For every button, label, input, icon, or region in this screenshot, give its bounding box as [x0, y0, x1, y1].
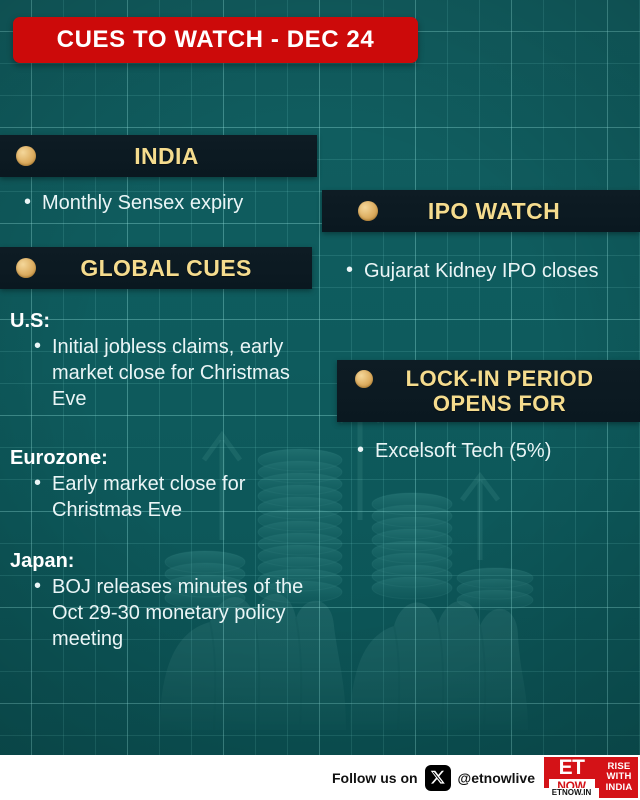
section-header-ipo-watch-label: IPO WATCH [378, 198, 640, 225]
footer-bar: Follow us on @etnowlive ET NOW ETNOW.IN … [0, 755, 640, 800]
page-title: CUES TO WATCH - DEC 24 [57, 26, 375, 54]
gold-coin-icon [355, 370, 373, 388]
list-item: Monthly Sensex expiry [22, 190, 312, 216]
subsection-label-us: U.S: [10, 310, 310, 333]
et-now-logo-left: ET NOW ETNOW.IN [544, 757, 599, 798]
follow-us-label: Follow us on [332, 770, 418, 786]
gold-coin-icon [16, 146, 36, 166]
gold-coin-icon [16, 258, 36, 278]
section-header-lock-in-period: LOCK-IN PERIOD OPENS FOR [337, 360, 640, 422]
tagline-line-3: INDIA [606, 783, 633, 793]
page-title-banner: CUES TO WATCH - DEC 24 [13, 17, 418, 63]
list-item: BOJ releases minutes of the Oct 29-30 mo… [32, 574, 320, 652]
list-item: Initial jobless claims, early market clo… [32, 334, 310, 412]
et-now-logo: ET NOW ETNOW.IN RISE WITH INDIA [544, 757, 638, 798]
section-header-global-cues-label: GLOBAL CUES [36, 255, 312, 282]
global-cues-group-japan: Japan: BOJ releases minutes of the Oct 2… [10, 550, 320, 653]
us-points-list: Initial jobless claims, early market clo… [32, 334, 310, 412]
et-now-logo-site: ETNOW.IN [544, 788, 599, 798]
x-twitter-icon[interactable] [425, 765, 451, 791]
social-handle[interactable]: @etnowlive [458, 770, 535, 786]
list-item: Gujarat Kidney IPO closes [344, 258, 624, 284]
list-item: Excelsoft Tech (5%) [355, 438, 635, 464]
ipo-points-list: Gujarat Kidney IPO closes [344, 258, 624, 284]
section-header-lock-in-period-label: LOCK-IN PERIOD OPENS FOR [373, 367, 640, 417]
global-cues-group-eurozone: Eurozone: Early market close for Christm… [10, 447, 310, 524]
japan-points-list: BOJ releases minutes of the Oct 29-30 mo… [32, 574, 320, 652]
section-header-india: INDIA [0, 135, 317, 177]
subsection-label-eurozone: Eurozone: [10, 447, 310, 470]
subsection-label-japan: Japan: [10, 550, 320, 573]
lock-in-points-list: Excelsoft Tech (5%) [355, 438, 635, 464]
et-now-logo-et: ET [559, 758, 585, 778]
lock-in-content: Excelsoft Tech (5%) [355, 438, 635, 465]
global-cues-group-us: U.S: Initial jobless claims, early marke… [10, 310, 310, 413]
ipo-watch-content: Gujarat Kidney IPO closes [344, 258, 624, 285]
eurozone-points-list: Early market close for Christmas Eve [32, 471, 310, 523]
section-header-ipo-watch: IPO WATCH [322, 190, 640, 232]
gold-coin-icon [358, 201, 378, 221]
india-points-list: Monthly Sensex expiry [22, 190, 312, 216]
section-header-india-label: INDIA [36, 143, 317, 170]
section-header-global-cues: GLOBAL CUES [0, 247, 312, 289]
et-now-logo-tagline: RISE WITH INDIA [599, 757, 638, 798]
india-content: Monthly Sensex expiry [22, 190, 312, 217]
list-item: Early market close for Christmas Eve [32, 471, 310, 523]
